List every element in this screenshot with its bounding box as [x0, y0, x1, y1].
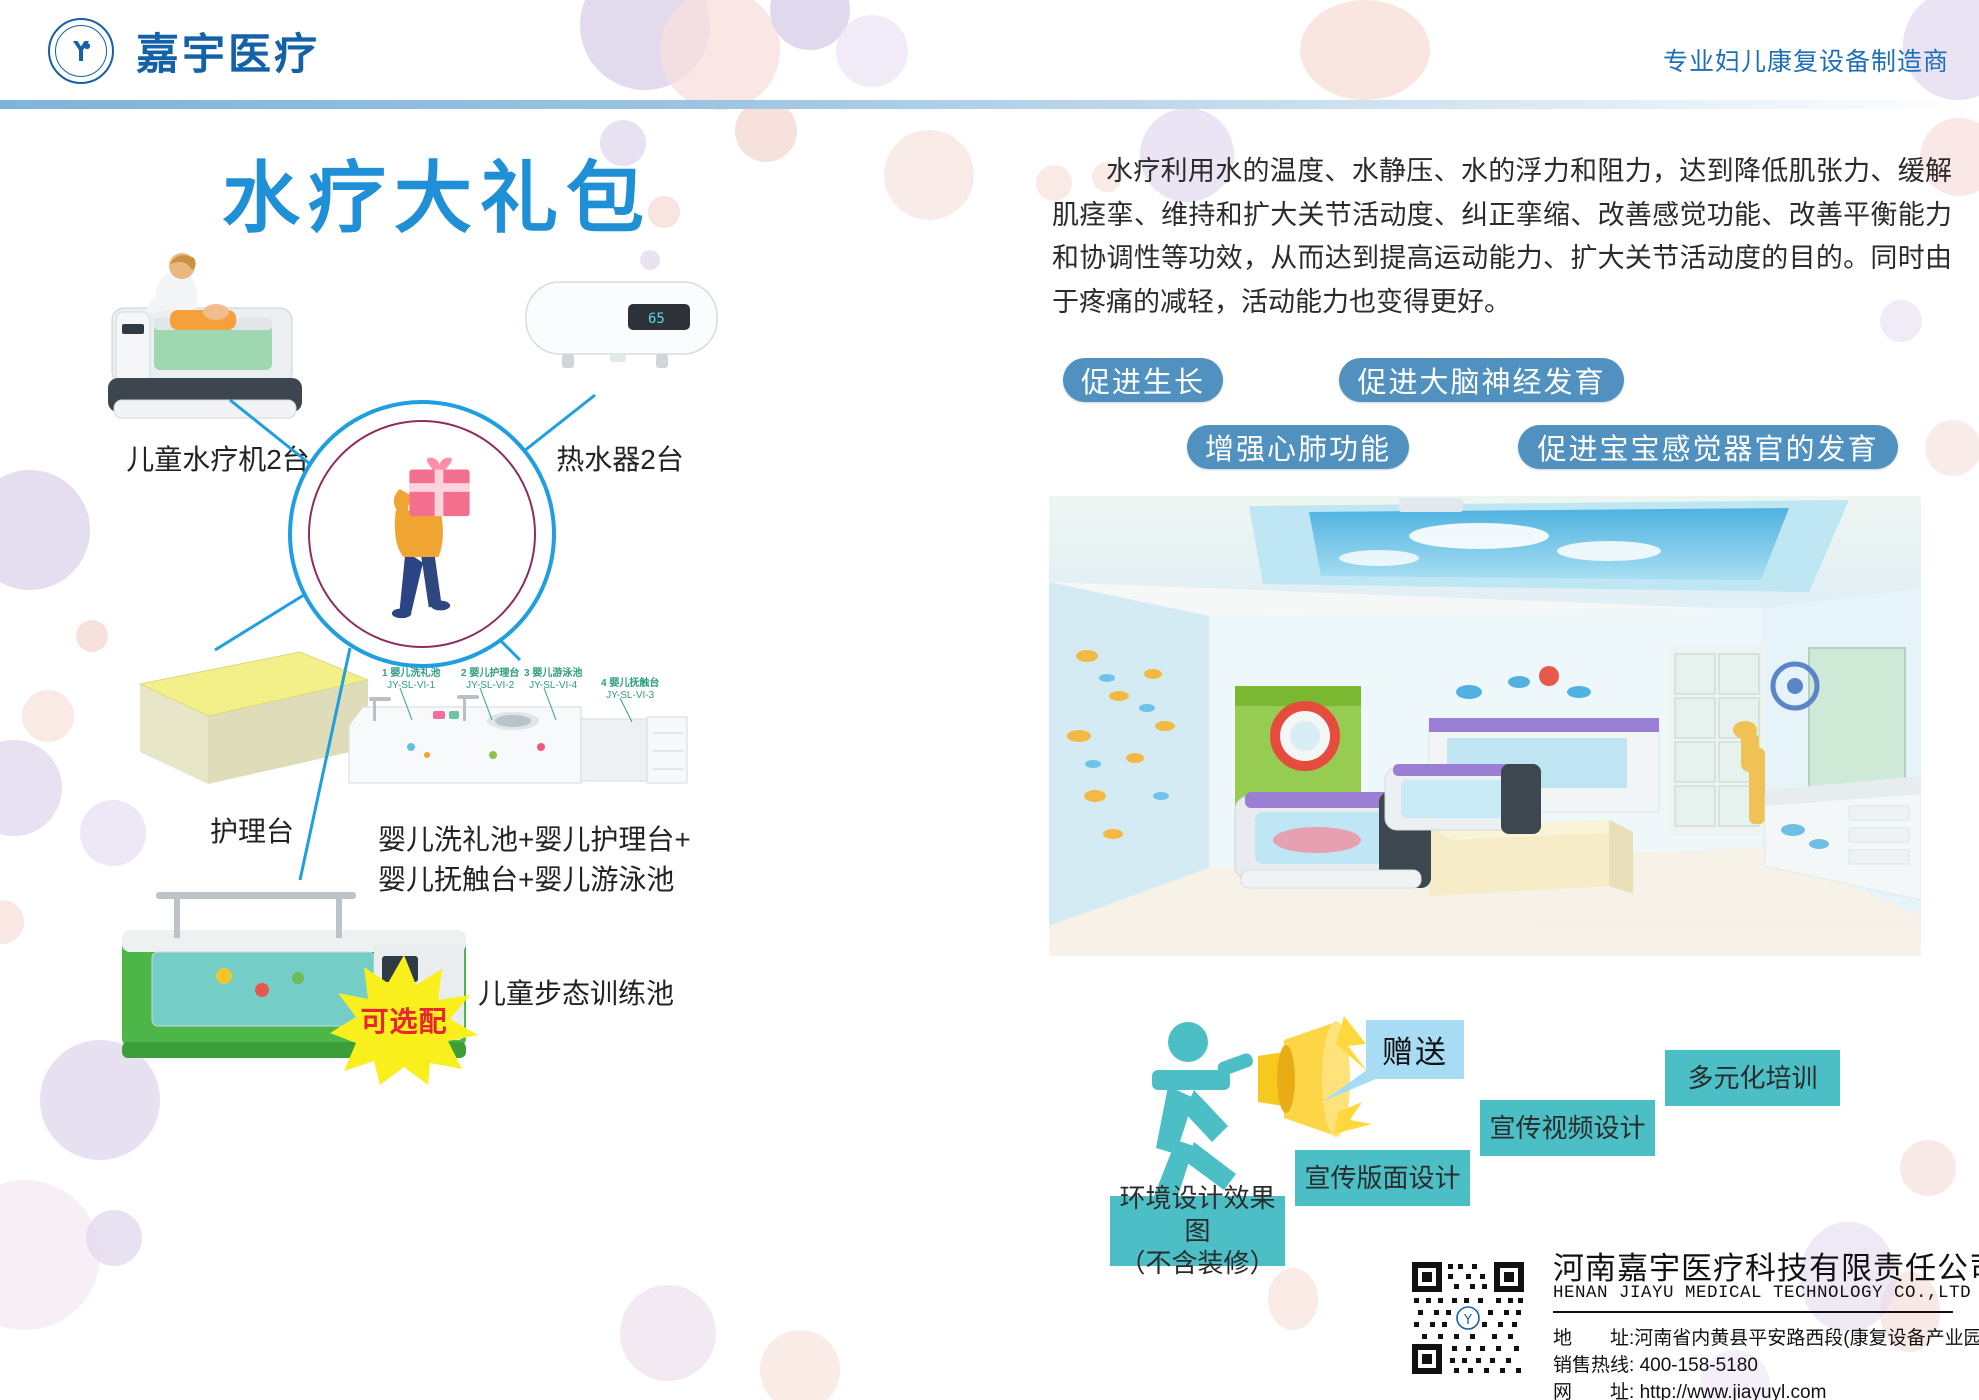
gift-step-1: 环境设计效果图 （不含装修） — [1110, 1196, 1285, 1266]
company-logo-icon — [48, 18, 114, 84]
qr-code: Y — [1408, 1258, 1528, 1378]
gift-step-4: 多元化培训 — [1665, 1050, 1840, 1106]
contact-divider — [1553, 1311, 1953, 1313]
benefit-pill-1: 促进生长 — [1063, 358, 1223, 402]
poster-page: 嘉宇医疗 专业妇儿康复设备制造商 水疗大礼包 — [0, 0, 1979, 1400]
speech-tail — [1320, 1056, 1380, 1108]
gift-circle — [288, 400, 556, 668]
runner-icon — [1132, 1020, 1262, 1205]
benefit-pill-2: 促进大脑神经发育 — [1339, 358, 1624, 402]
optional-badge-label: 可选配 — [330, 955, 478, 1085]
benefit-pill-3: 增强心肺功能 — [1187, 425, 1409, 469]
benefit-pill-4: 促进宝宝感觉器官的发育 — [1518, 425, 1898, 469]
intro-paragraph: 水疗利用水的温度、水静压、水的浮力和阻力，达到降低肌张力、缓解肌痉挛、维持和扩大… — [1052, 150, 1952, 325]
company-name-en: HENAN JIAYU MEDICAL TECHNOLOGY CO.,LTD — [1553, 1283, 1971, 1303]
combo-leader-lines — [380, 686, 680, 726]
optional-badge-star: 可选配 — [330, 955, 478, 1085]
page-header: 嘉宇医疗 专业妇儿康复设备制造商 — [0, 0, 1979, 100]
svg-text:Y: Y — [1463, 1313, 1472, 1328]
room-rendering-photo — [1049, 496, 1921, 956]
contact-hotline: 销售热线: 400-158-5180 — [1553, 1350, 1758, 1377]
brand-name: 嘉宇医疗 — [136, 20, 320, 82]
company-name-cn: 河南嘉宇医疗科技有限责任公司 — [1553, 1243, 1979, 1288]
gift-step-1-line2: （不含装修） — [1110, 1247, 1285, 1280]
gift-step-3: 宣传视频设计 — [1480, 1100, 1655, 1156]
header-slogan: 专业妇儿康复设备制造商 — [1663, 42, 1949, 78]
gift-step-2: 宣传版面设计 — [1295, 1150, 1470, 1206]
gift-step-1-line1: 环境设计效果图 — [1110, 1182, 1285, 1247]
gift-person-icon — [347, 454, 497, 624]
gift-speech-bubble: 赠送 — [1366, 1020, 1464, 1079]
brand-logo[interactable]: 嘉宇医疗 — [48, 18, 320, 84]
contact-website: 网 址: http://www.jiayuyl.com — [1553, 1377, 1826, 1400]
contact-address: 地 址:河南省内黄县平安路西段(康复设备产业园内) — [1553, 1323, 1979, 1350]
header-divider — [0, 100, 1979, 109]
